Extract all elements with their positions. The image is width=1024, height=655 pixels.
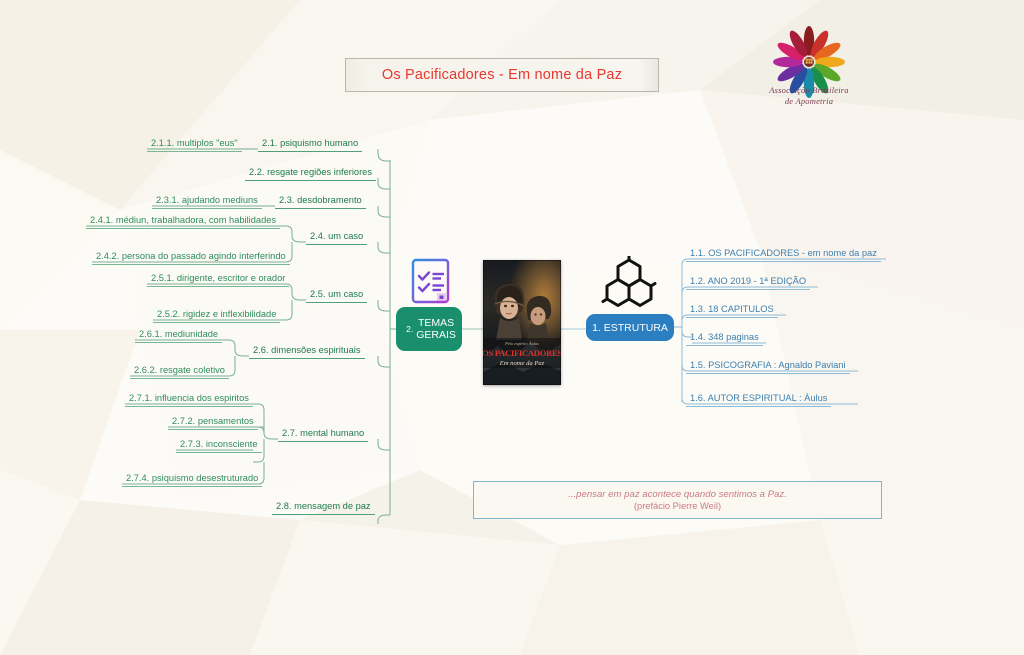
- node-temas-label-line1: TEMAS: [418, 317, 454, 329]
- branch-label-1-3[interactable]: 1.3. 18 CAPITULOS: [686, 303, 778, 318]
- mindmap-title-box: Os Pacificadores - Em nome da Paz: [345, 58, 659, 92]
- mindmap-canvas: Os Pacificadores - Em nome da Paz: [0, 0, 1024, 655]
- node-temas-label: TEMAS GERAIS: [416, 317, 456, 342]
- quote-attribution: (prefácio Pierre Weil): [634, 501, 721, 511]
- branch-label-2-1[interactable]: 2.1. psiquismo humano: [258, 137, 362, 152]
- node-temas-label-line2: GERAIS: [416, 329, 456, 341]
- branch-label-1-1[interactable]: 1.1. OS PACIFICADORES - em nome da paz: [686, 247, 881, 262]
- branch-label-1-2[interactable]: 1.2. ANO 2019 - 1ª EDIÇÃO: [686, 275, 810, 290]
- page-title: Os Pacificadores - Em nome da Paz: [382, 67, 622, 83]
- central-node-estrutura[interactable]: 1. ESTRUTURA: [586, 314, 674, 341]
- book-main-title: OS PACIFICADORES: [483, 348, 561, 358]
- molecule-hexagon-icon: [598, 256, 660, 310]
- branch-label-1-4[interactable]: 1.4. 348 paginas: [686, 331, 763, 346]
- branch-label-2-4-2[interactable]: 2.4.2. persona do passado agindo interfe…: [92, 250, 290, 265]
- branch-label-1-6[interactable]: 1.6. AUTOR ESPIRITUAL : Áulus: [686, 392, 831, 407]
- branch-label-2-7[interactable]: 2.7. mental humano: [278, 427, 368, 442]
- central-node-temas-gerais[interactable]: 2. TEMAS GERAIS: [396, 307, 462, 351]
- branch-label-2-2[interactable]: 2.2. resgate regiões inferiores: [245, 166, 376, 181]
- branch-label-2-5[interactable]: 2.5. um caso: [306, 288, 367, 303]
- branch-label-2-5-1[interactable]: 2.5.1. dirigente, escritor e orador: [147, 272, 289, 287]
- branch-label-2-7-4[interactable]: 2.7.4. psiquismo desestruturado: [122, 472, 262, 487]
- branch-label-2-3-1[interactable]: 2.3.1. ajudando mediuns: [152, 194, 262, 209]
- node-temas-number: 2.: [406, 324, 413, 334]
- branch-label-2-7-2[interactable]: 2.7.2. pensamentos: [168, 415, 258, 430]
- branch-label-2-6-2[interactable]: 2.6.2. resgate coletivo: [130, 364, 229, 379]
- branch-label-2-4[interactable]: 2.4. um caso: [306, 230, 367, 245]
- branch-label-2-1-1[interactable]: 2.1.1. multiplos "eus": [147, 137, 242, 152]
- quote-box: ...pensar em paz acontece quando sentimo…: [473, 481, 882, 519]
- book-cover-image: Pelo espírito Áulus OS PACIFICADORES Em …: [483, 260, 561, 385]
- branch-label-2-3[interactable]: 2.3. desdobramento: [275, 194, 366, 209]
- book-subtitle: Em nome da Paz: [499, 360, 545, 367]
- branch-label-1-5[interactable]: 1.5. PSICOGRAFIA : Agnaldo Paviani: [686, 359, 850, 374]
- checklist-clipboard-icon: [407, 256, 454, 306]
- branch-label-2-6-1[interactable]: 2.6.1. mediunidade: [135, 328, 222, 343]
- branch-label-2-6[interactable]: 2.6. dimensões espirituais: [249, 344, 365, 359]
- quote-text: ...pensar em paz acontece quando sentimo…: [568, 489, 787, 500]
- branch-label-2-7-1[interactable]: 2.7.1. influencia dos espiritos: [125, 392, 253, 407]
- book-top-script: Pelo espírito Áulus: [504, 341, 539, 346]
- logo-caption-line1: Associação Brasileira: [757, 85, 861, 95]
- branch-label-2-4-1[interactable]: 2.4.1. médiun, trabalhadora, com habilid…: [86, 214, 280, 229]
- branch-label-2-8[interactable]: 2.8. mensagem de paz: [272, 500, 375, 515]
- logo-caption-line2: de Apometria: [757, 96, 861, 106]
- branch-label-2-7-3[interactable]: 2.7.3. inconsciente: [176, 438, 262, 453]
- branch-label-2-5-2[interactable]: 2.5.2. rigidez e inflexibilidade: [153, 308, 280, 323]
